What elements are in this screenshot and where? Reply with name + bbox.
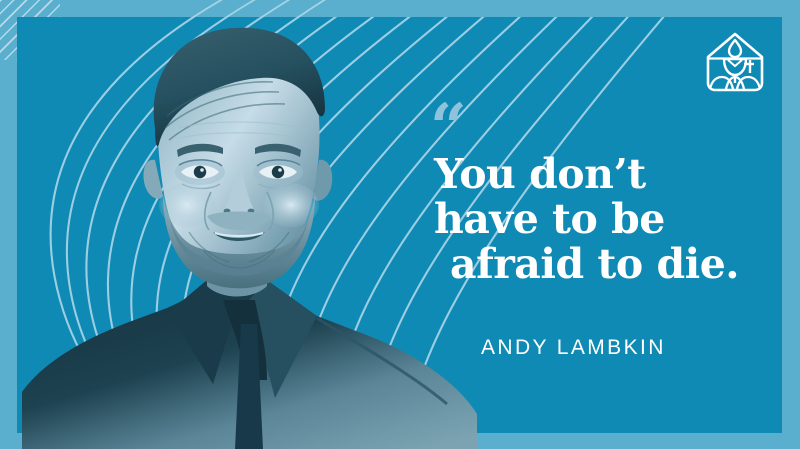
attribution-name: ANDY LAMBKIN: [481, 336, 666, 360]
open-quote-icon: “: [430, 110, 780, 152]
house-chalice-flame-logo: [700, 27, 770, 97]
quote-line-2: have to be: [434, 197, 780, 242]
quote-line-1: You don’t: [434, 152, 780, 197]
quote-card: “ You don’t have to be afraid to die. AN…: [0, 0, 800, 449]
portrait-photo: [17, 0, 487, 449]
quote-block: “ You don’t have to be afraid to die.: [430, 110, 780, 287]
quote-line-3: afraid to die.: [450, 242, 780, 287]
